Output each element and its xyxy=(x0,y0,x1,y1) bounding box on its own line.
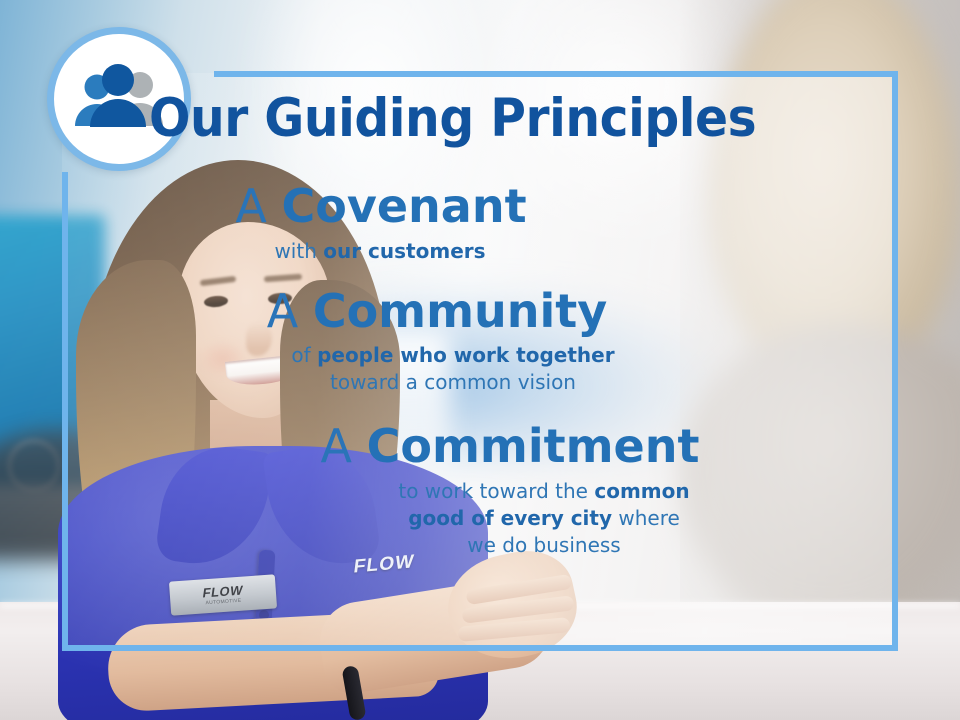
principle-community-line-1: of people who work together xyxy=(62,342,844,369)
text-run-bold: good of every city xyxy=(408,506,612,530)
text-run-bold: our customers xyxy=(323,239,485,263)
principle-covenant-body: with our customers xyxy=(62,238,898,265)
principle-commitment: A Commitment to work toward the common g… xyxy=(62,422,898,559)
name-badge-text: FLOW xyxy=(202,584,244,600)
principle-commitment-keyword: Commitment xyxy=(367,419,700,473)
principle-community-body: of people who work together toward a com… xyxy=(62,342,898,396)
principle-community-lead: A xyxy=(267,284,298,338)
text-run: where xyxy=(612,506,680,530)
principle-commitment-line-3: we do business xyxy=(190,532,898,559)
principle-commitment-lead: A xyxy=(321,419,352,473)
principle-covenant: A Covenant with our customers xyxy=(62,182,898,265)
principle-community-heading: A Community xyxy=(62,287,898,337)
page-title: Our Guiding Principles xyxy=(40,92,866,145)
principles-list: A Covenant with our customers A Communit… xyxy=(62,182,898,569)
principle-commitment-body: to work toward the common good of every … xyxy=(62,478,898,559)
text-run-bold: common xyxy=(594,479,689,503)
text-run: of xyxy=(291,343,317,367)
text-run: with xyxy=(274,239,323,263)
principle-community-keyword: Community xyxy=(313,284,607,338)
principle-commitment-heading: A Commitment xyxy=(62,422,898,472)
text-run: to work toward the xyxy=(398,479,594,503)
principle-community: A Community of people who work together … xyxy=(62,287,898,397)
principle-covenant-heading: A Covenant xyxy=(62,182,898,232)
frame-border-bottom xyxy=(62,645,898,651)
text-run-bold: people who work together xyxy=(317,343,615,367)
frame-border-top xyxy=(214,71,898,77)
guiding-principles-graphic: FLOW FLOW AUTOMOTIVE xyxy=(0,0,960,720)
principle-community-line-2: toward a common vision xyxy=(62,369,844,396)
principle-covenant-lead: A xyxy=(235,179,266,233)
principle-commitment-line-1: to work toward the common xyxy=(190,478,898,505)
principle-covenant-line-1: with our customers xyxy=(62,238,698,265)
principle-covenant-keyword: Covenant xyxy=(282,179,527,233)
principle-commitment-line-2: good of every city where xyxy=(190,505,898,532)
